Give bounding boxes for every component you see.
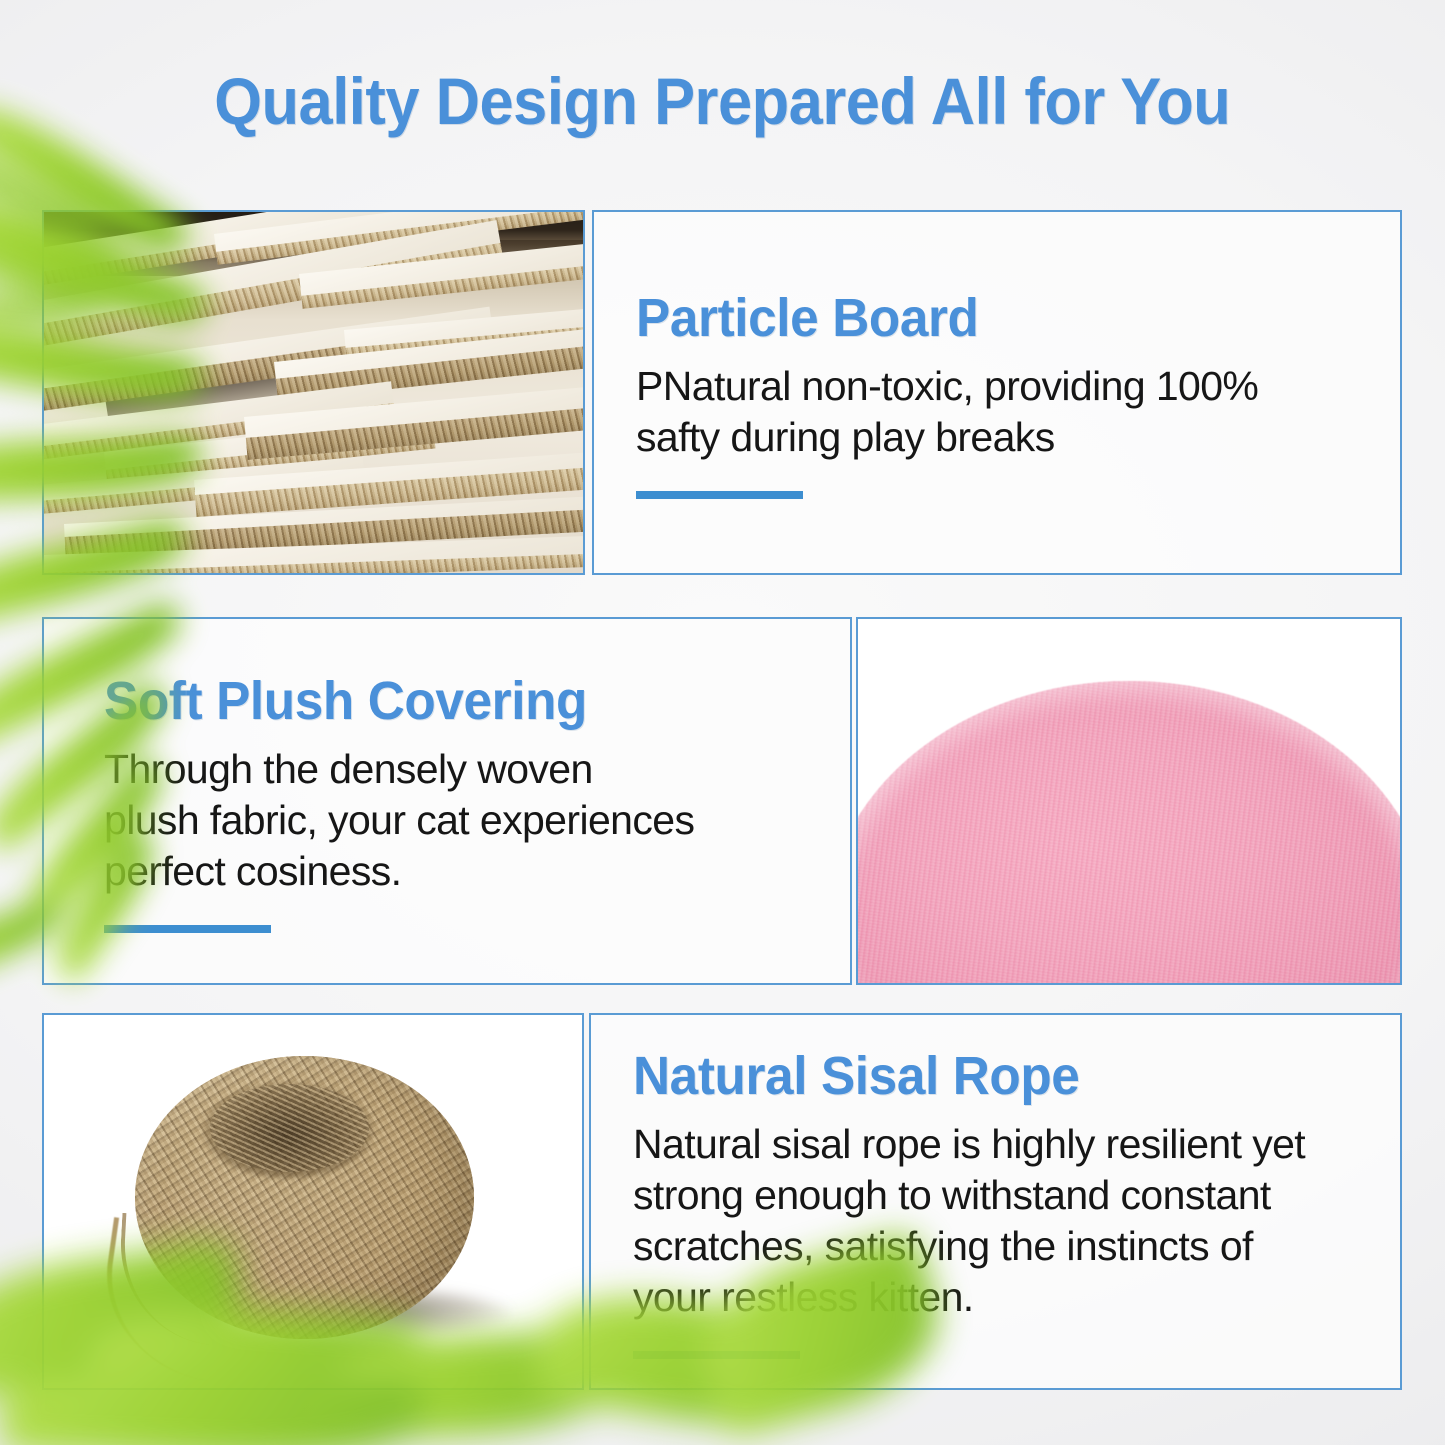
plush-fabric-scene xyxy=(858,619,1400,983)
particle-board-text: Particle Board PNatural non-toxic, provi… xyxy=(594,287,1400,499)
rope-ball xyxy=(135,1056,474,1339)
particle-board-scene xyxy=(44,212,583,573)
sisal-rope-body: Natural sisal rope is highly resilient y… xyxy=(633,1119,1374,1323)
soft-plush-body: Through the densely woven plush fabric, … xyxy=(104,744,824,897)
sisal-rope-image xyxy=(42,1013,584,1390)
sisal-rope-text: Natural Sisal Rope Natural sisal rope is… xyxy=(591,1045,1400,1359)
particle-board-accent-bar xyxy=(636,491,803,499)
particle-board-heading: Particle Board xyxy=(636,287,1337,349)
plush-soft-edge xyxy=(856,681,1402,985)
page-title-text: Quality Design Prepared All for You xyxy=(214,62,1230,140)
particle-board-body: PNatural non-toxic, providing 100% safty… xyxy=(636,361,1374,463)
plush-disc xyxy=(856,681,1402,985)
particle-board-text-panel: Particle Board PNatural non-toxic, provi… xyxy=(592,210,1402,575)
soft-plush-text-panel: Soft Plush Covering Through the densely … xyxy=(42,617,852,985)
sisal-rope-text-panel: Natural Sisal Rope Natural sisal rope is… xyxy=(589,1013,1402,1390)
soft-plush-text: Soft Plush Covering Through the densely … xyxy=(44,670,850,933)
particle-board-image xyxy=(42,210,585,575)
sisal-rope-scene xyxy=(44,1015,582,1388)
feature-card-natural-sisal-rope: Natural Sisal Rope Natural sisal rope is… xyxy=(42,1013,1402,1390)
infographic-page: Quality Design Prepared All for You xyxy=(0,0,1445,1445)
soft-plush-accent-bar xyxy=(104,925,271,933)
soft-plush-heading: Soft Plush Covering xyxy=(104,670,788,732)
sisal-rope-heading: Natural Sisal Rope xyxy=(633,1045,1337,1107)
sisal-rope-accent-bar xyxy=(633,1351,800,1359)
soft-plush-image xyxy=(856,617,1402,985)
page-title: Quality Design Prepared All for You xyxy=(0,62,1445,140)
rope-center-strands xyxy=(210,1084,369,1172)
feature-card-particle-board: Particle Board PNatural non-toxic, provi… xyxy=(42,210,1402,575)
feature-card-soft-plush-covering: Soft Plush Covering Through the densely … xyxy=(42,617,1402,985)
